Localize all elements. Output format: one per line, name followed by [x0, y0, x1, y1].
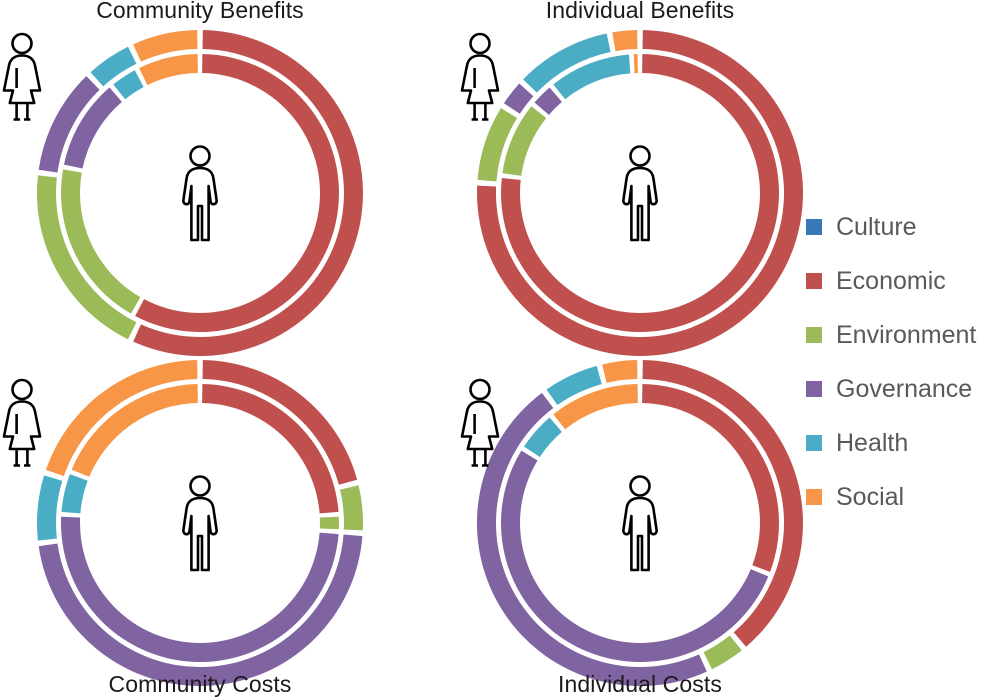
- donut-slice-inner-social[interactable]: [72, 384, 198, 477]
- legend-swatch-health: [806, 435, 822, 451]
- male-figure-icon: [623, 477, 656, 571]
- legend-swatch-environment: [806, 327, 822, 343]
- donut-slice-outer-social[interactable]: [612, 30, 637, 51]
- donut-slice-outer-health[interactable]: [37, 475, 62, 540]
- legend-swatch-economic: [806, 273, 822, 289]
- donut-svg: [475, 358, 805, 688]
- donut-ring-outer: [37, 360, 363, 686]
- panel-title: Community Benefits: [0, 0, 400, 24]
- legend: CultureEconomicEnvironmentGovernanceHeal…: [806, 200, 1000, 524]
- donut-slice-inner-social[interactable]: [634, 54, 638, 73]
- panel-title: Community Costs: [0, 671, 400, 698]
- legend-swatch-culture: [806, 219, 822, 235]
- legend-item[interactable]: Environment: [806, 308, 1000, 362]
- legend-label: Culture: [836, 215, 917, 240]
- legend-label: Environment: [836, 323, 976, 348]
- female-figure-icon: [0, 30, 44, 127]
- figure-canvas: Community Benefits Individual Benefits C…: [0, 0, 1000, 700]
- donut-svg: [475, 28, 805, 358]
- donut-ring-outer: [477, 30, 803, 356]
- male-figure-icon: [183, 477, 216, 571]
- donut-chart-individual-costs: [475, 358, 805, 688]
- male-figure-icon: [183, 147, 216, 241]
- donut-slice-outer-environment[interactable]: [340, 485, 363, 530]
- legend-label: Economic: [836, 269, 946, 294]
- female-figure-icon: [458, 30, 502, 127]
- donut-chart-community-costs: [35, 358, 365, 688]
- donut-slice-outer-social[interactable]: [602, 360, 637, 383]
- donut-slice-inner-economic[interactable]: [202, 384, 338, 513]
- legend-swatch-governance: [806, 381, 822, 397]
- donut-svg: [35, 358, 365, 688]
- legend-label: Governance: [836, 377, 972, 402]
- donut-ring-outer: [477, 360, 803, 686]
- donut-slice-outer-governance[interactable]: [39, 535, 363, 686]
- donut-slice-inner-health[interactable]: [61, 474, 87, 513]
- donut-ring-inner: [501, 384, 779, 662]
- legend-item[interactable]: Social: [806, 470, 1000, 524]
- donut-slice-inner-environment[interactable]: [320, 517, 339, 530]
- female-figure-icon: [0, 376, 44, 473]
- panel-title: Individual Benefits: [440, 0, 840, 24]
- legend-item[interactable]: Culture: [806, 200, 1000, 254]
- legend-item[interactable]: Health: [806, 416, 1000, 470]
- donut-ring-inner: [61, 384, 339, 662]
- legend-label: Social: [836, 485, 904, 510]
- donut-ring-inner: [501, 54, 779, 332]
- donut-ring-outer: [37, 30, 363, 356]
- male-figure-icon: [623, 147, 656, 241]
- donut-ring-inner: [61, 54, 339, 332]
- donut-slice-outer-governance[interactable]: [504, 84, 533, 114]
- panel-title: Individual Costs: [440, 671, 840, 698]
- legend-item[interactable]: Economic: [806, 254, 1000, 308]
- legend-label: Health: [836, 431, 908, 456]
- female-figure-icon: [458, 376, 502, 473]
- legend-item[interactable]: Governance: [806, 362, 1000, 416]
- chart-panel-community-benefits: Community Benefits: [0, 0, 400, 350]
- donut-svg: [35, 28, 365, 358]
- donut-slice-inner-governance[interactable]: [534, 87, 561, 114]
- donut-chart-individual-benefits: [475, 28, 805, 358]
- donut-chart-community-benefits: [35, 28, 365, 358]
- legend-swatch-social: [806, 489, 822, 505]
- chart-panel-community-costs: Community Costs: [0, 350, 400, 700]
